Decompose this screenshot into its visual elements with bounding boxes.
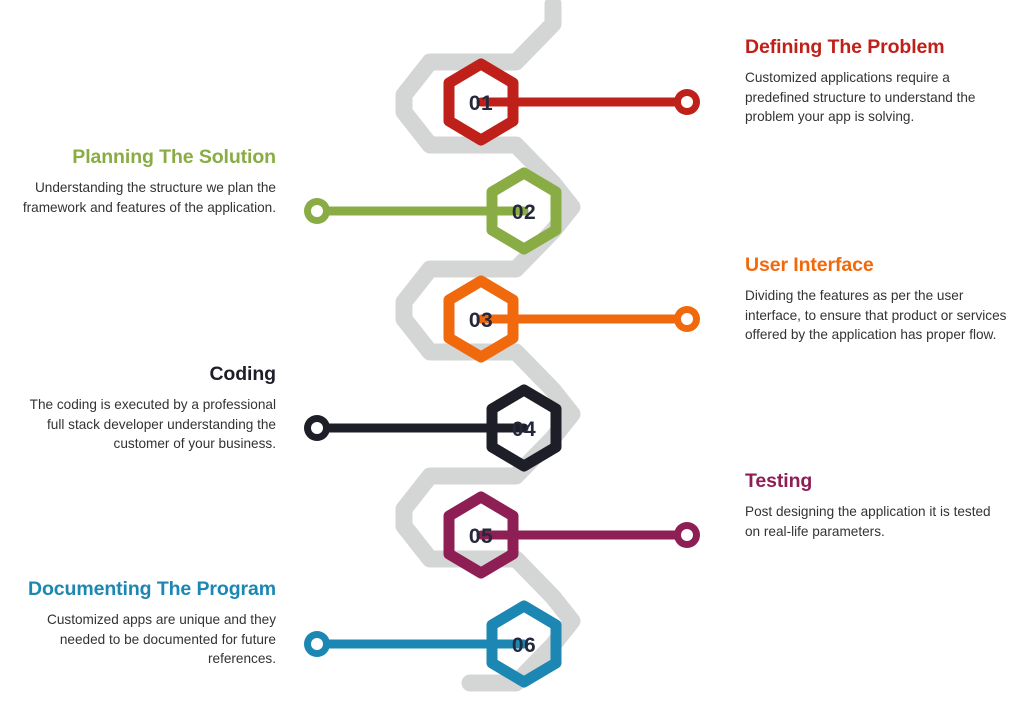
- connector-endpoint-hole-02: [311, 205, 323, 217]
- step-text-block-01: Defining The Problem Customized applicat…: [745, 36, 1007, 127]
- step-title-06: Documenting The Program: [14, 578, 276, 601]
- step-node-02[interactable]: 02: [304, 173, 556, 249]
- step-number-01: 01: [469, 92, 493, 115]
- step-body-05: Post designing the application it is tes…: [745, 502, 1007, 541]
- step-title-02: Planning The Solution: [14, 146, 276, 169]
- step-number-06: 06: [512, 634, 536, 657]
- step-title-05: Testing: [745, 470, 1007, 493]
- step-body-01: Customized applications require a predef…: [745, 68, 1007, 127]
- step-text-block-05: Testing Post designing the application i…: [745, 470, 1007, 541]
- step-number-02: 02: [512, 201, 536, 224]
- step-text-block-03: User Interface Dividing the features as …: [745, 254, 1007, 345]
- step-text-block-04: Coding The coding is executed by a profe…: [14, 363, 276, 454]
- connector-endpoint-hole-06: [311, 638, 323, 650]
- step-title-04: Coding: [14, 363, 276, 386]
- process-infographic: 01 02 03 04: [0, 0, 1024, 707]
- connector-endpoint-hole-05: [681, 529, 693, 541]
- step-node-01[interactable]: 01: [449, 64, 700, 140]
- step-title-01: Defining The Problem: [745, 36, 1007, 59]
- step-text-block-06: Documenting The Program Customized apps …: [14, 578, 276, 669]
- step-title-03: User Interface: [745, 254, 1007, 277]
- connector-endpoint-hole-03: [681, 313, 693, 325]
- step-number-04: 04: [512, 418, 536, 441]
- step-text-block-02: Planning The Solution Understanding the …: [14, 146, 276, 217]
- connector-endpoint-hole-04: [311, 422, 323, 434]
- connector-endpoint-hole-01: [681, 96, 693, 108]
- step-body-06: Customized apps are unique and they need…: [14, 610, 276, 669]
- step-body-02: Understanding the structure we plan the …: [14, 178, 276, 217]
- step-body-03: Dividing the features as per the user in…: [745, 286, 1007, 345]
- step-number-05: 05: [469, 525, 493, 548]
- step-node-04[interactable]: 04: [304, 390, 556, 466]
- step-number-03: 03: [469, 309, 493, 332]
- step-body-04: The coding is executed by a professional…: [14, 395, 276, 454]
